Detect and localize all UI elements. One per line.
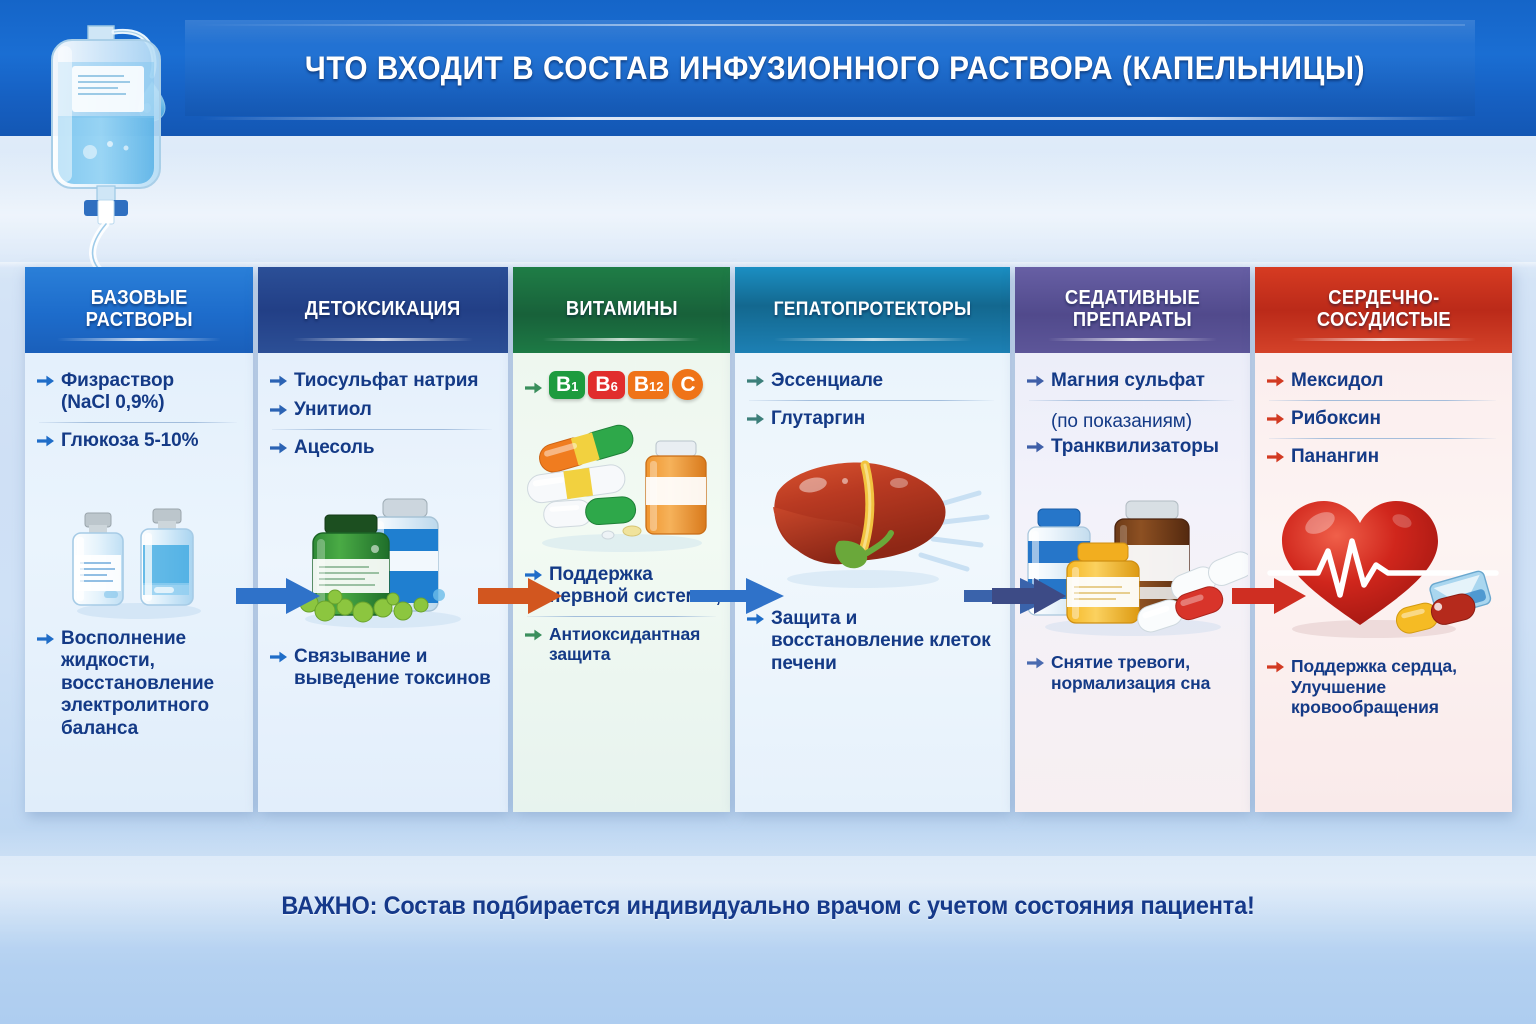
list-item-label: (по показаниям) <box>1051 411 1192 433</box>
vitamin-badge-b1: B1 <box>549 371 585 399</box>
list-item-label: Панангин <box>1291 446 1379 468</box>
effect-label: Снятие тревоги, нормализация сна <box>1051 652 1242 693</box>
list-divider <box>1269 400 1496 401</box>
list-item[interactable]: Магния сульфат <box>1025 367 1240 396</box>
column-header-sedatives: СЕДАТИВНЫЕ ПРЕПАРАТЫ <box>1015 267 1250 353</box>
arrow-right-icon <box>37 374 54 393</box>
arrow-right-icon <box>747 374 764 393</box>
page-title: ЧТО ВХОДИТ В СОСТАВ ИНФУЗИОННОГО РАСТВОР… <box>231 50 1440 87</box>
list-divider <box>1269 438 1496 439</box>
vitamin-badge-b12: B12 <box>628 371 670 399</box>
effect-label: Восполнение жидкости, восстановление эле… <box>61 628 245 740</box>
list-divider <box>39 422 237 423</box>
effect-item: Восполнение жидкости, восстановление эле… <box>35 625 245 743</box>
column-sedatives[interactable]: СЕДАТИВНЫЕ ПРЕПАРАТЫ Магния сульфат (по … <box>1015 267 1250 812</box>
list-item-label: Физраствор (NaCl 0,9%) <box>61 370 174 415</box>
drug-list: Тиосульфат натрия Унитиол Ацесоль <box>268 367 498 463</box>
column-title: СЕРДЕЧНО- СОСУДИСТЫЕ <box>1311 288 1456 331</box>
column-header-detox: ДЕТОКСИКАЦИЯ <box>258 267 508 353</box>
effect-block: Защита и восстановление клеток печени <box>745 605 1002 678</box>
list-item-label: Рибоксин <box>1291 408 1381 430</box>
column-hepatoprotectors[interactable]: ГЕПАТОПРОТЕКТОРЫ Эссенциале <box>735 267 1010 812</box>
column-base-solutions[interactable]: БАЗОВЫЕ РАСТВОРЫ Физраствор (NaCl 0,9%) <box>25 267 253 812</box>
vitamin-badge-b6: B6 <box>588 371 624 399</box>
vitamin-badges-row: B1 B6 B12 C <box>523 367 720 403</box>
arrow-right-icon <box>270 441 287 460</box>
list-item[interactable]: Физраствор (NaCl 0,9%) <box>35 367 243 418</box>
list-item-label: Магния сульфат <box>1051 370 1205 392</box>
arrow-right-icon <box>525 568 542 587</box>
arrow-right-icon <box>1267 374 1284 393</box>
effect-label: Поддержка нервной системы, <box>549 564 722 609</box>
list-item[interactable]: Ацесоль <box>268 434 498 463</box>
arrow-right-icon <box>1027 656 1044 675</box>
effect-block: Связывание и выведение токсинов <box>268 643 500 694</box>
list-item-label: Унитиол <box>294 399 372 421</box>
effect-label: Защита и восстановление клеток печени <box>771 608 1002 675</box>
arrow-right-icon <box>1267 660 1284 679</box>
drug-list: Физраствор (NaCl 0,9%) Глюкоза 5-10% <box>35 367 243 456</box>
effect-block: Восполнение жидкости, восстановление эле… <box>35 625 245 743</box>
pill-bottles-and-capsule-icon <box>1015 479 1250 639</box>
list-item-label: Транквилизаторы <box>1051 436 1219 458</box>
list-item-label: Ацесоль <box>294 437 374 459</box>
list-item-label: Глутаргин <box>771 408 865 430</box>
list-item[interactable]: Панангин <box>1265 443 1502 472</box>
list-item-label: Мексидол <box>1291 370 1383 392</box>
badge-subscript: 1 <box>571 379 578 394</box>
list-item[interactable]: Эссенциале <box>745 367 1000 396</box>
effect-block: Поддержка сердца, Улучшение кровообращен… <box>1265 653 1504 721</box>
list-item-label: Эссенциале <box>771 370 883 392</box>
list-divider <box>527 616 716 617</box>
vitamin-badge-c: C <box>672 369 703 400</box>
list-item[interactable]: Глюкоза 5-10% <box>35 427 243 456</box>
iv-drip-bag-icon <box>18 4 238 284</box>
effect-block: Поддержка нервной системы, Антиоксидантн… <box>523 561 722 668</box>
drug-list: Магния сульфат (по показаниям) Транквили… <box>1025 367 1240 462</box>
arrow-right-icon <box>747 412 764 431</box>
footer-note: ВАЖНО: Состав подбирается индивидуально … <box>46 892 1490 921</box>
header-underline <box>200 117 1471 120</box>
list-item-note: (по показаниям) <box>1025 405 1240 436</box>
list-item[interactable]: Унитиол <box>268 396 498 425</box>
arrow-right-icon <box>1267 450 1284 469</box>
column-cardiovascular[interactable]: СЕРДЕЧНО- СОСУДИСТЫЕ Мексидол <box>1255 267 1512 812</box>
column-title: ДЕТОКСИКАЦИЯ <box>300 299 467 321</box>
column-body: B1 B6 B12 C <box>513 353 730 812</box>
arrow-right-icon <box>37 632 54 651</box>
effect-item: Снятие тревоги, нормализация сна <box>1025 649 1242 696</box>
column-title: ВИТАМИНЫ <box>560 299 683 321</box>
column-title: БАЗОВЫЕ РАСТВОРЫ <box>80 288 198 331</box>
infographic-page: ЧТО ВХОДИТ В СОСТАВ ИНФУЗИОННОГО РАСТВОР… <box>0 0 1536 1024</box>
column-body: Тиосульфат натрия Унитиол Ацесоль <box>258 353 508 812</box>
category-columns: БАЗОВЫЕ РАСТВОРЫ Физраствор (NaCl 0,9%) <box>0 267 1536 817</box>
drug-list: Эссенциале Глутаргин <box>745 367 1000 434</box>
arrow-right-icon <box>270 374 287 393</box>
badge-subscript: 12 <box>649 379 663 394</box>
list-item-label: Глюкоза 5-10% <box>61 430 198 452</box>
list-item[interactable]: Глутаргин <box>745 405 1000 434</box>
effect-item: Поддержка сердца, Улучшение кровообращен… <box>1265 653 1504 721</box>
badge-letter: C <box>680 373 695 397</box>
column-vitamins[interactable]: ВИТАМИНЫ B1 B6 B12 <box>513 267 730 812</box>
arrow-right-icon <box>37 434 54 453</box>
effect-label: Антиоксидантная защита <box>549 624 722 665</box>
column-body: Мексидол Рибоксин Панангин <box>1255 353 1512 812</box>
arrow-right-icon <box>1267 412 1284 431</box>
badge-letter: B <box>556 373 571 397</box>
effect-item: Защита и восстановление клеток печени <box>745 605 1002 678</box>
badge-letter: B <box>595 373 610 397</box>
arrow-right-icon <box>1027 374 1044 393</box>
badge-subscript: 6 <box>611 379 618 394</box>
arrow-right-icon <box>525 381 542 400</box>
list-divider <box>272 429 492 430</box>
column-header-vitamins: ВИТАМИНЫ <box>513 267 730 353</box>
arrow-right-icon <box>747 612 764 631</box>
arrow-right-icon <box>270 403 287 422</box>
green-blue-bottles-icon <box>258 471 508 631</box>
effect-item: Связывание и выведение токсинов <box>268 643 500 694</box>
effect-block: Снятие тревоги, нормализация сна <box>1025 649 1242 696</box>
column-title: ГЕПАТОПРОТЕКТОРЫ <box>768 300 977 321</box>
column-body: Физраствор (NaCl 0,9%) Глюкоза 5-10% <box>25 353 253 812</box>
column-header-hepatoprotectors: ГЕПАТОПРОТЕКТОРЫ <box>735 267 1010 353</box>
list-item-label: Тиосульфат натрия <box>294 370 478 392</box>
list-item[interactable]: Мексидол <box>1265 367 1502 396</box>
column-detox[interactable]: ДЕТОКСИКАЦИЯ Тиосульфат натрия Унитиол <box>258 267 508 812</box>
badge-letter: B <box>634 373 649 397</box>
list-divider <box>1029 400 1234 401</box>
effect-item: Поддержка нервной системы, <box>523 561 722 612</box>
list-item[interactable]: Транквилизаторы <box>1025 436 1240 462</box>
column-header-base-solutions: БАЗОВЫЕ РАСТВОРЫ <box>25 267 253 353</box>
arrow-right-icon <box>525 628 542 647</box>
column-header-cardiovascular: СЕРДЕЧНО- СОСУДИСТЫЕ <box>1255 267 1512 353</box>
list-divider <box>749 400 994 401</box>
heart-with-ecg-icon <box>1255 489 1512 639</box>
liver-icon <box>735 445 1010 595</box>
column-body: Эссенциале Глутаргин <box>735 353 1010 812</box>
list-item[interactable]: Рибоксин <box>1265 405 1502 434</box>
column-body: Магния сульфат (по показаниям) Транквили… <box>1015 353 1250 812</box>
drug-list: Мексидол Рибоксин Панангин <box>1265 367 1502 472</box>
effect-label: Поддержка сердца, Улучшение кровообращен… <box>1291 656 1504 718</box>
arrow-right-icon <box>270 650 287 669</box>
capsules-and-pill-bottle-icon <box>513 407 730 557</box>
column-title: СЕДАТИВНЫЕ ПРЕПАРАТЫ <box>1059 288 1205 331</box>
effect-label: Связывание и выведение токсинов <box>294 646 500 691</box>
two-glass-vials-icon <box>25 483 253 623</box>
effect-item: Антиоксидантная защита <box>523 621 722 668</box>
arrow-right-icon <box>1027 440 1044 459</box>
list-item[interactable]: Тиосульфат натрия <box>268 367 498 396</box>
